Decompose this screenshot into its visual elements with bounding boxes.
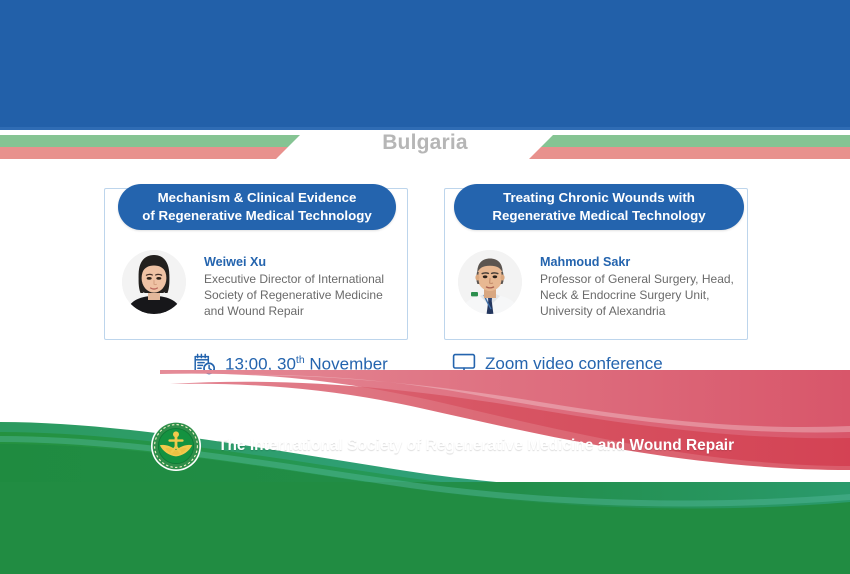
- session-title-pill-1: Mechanism & Clinical Evidence of Regener…: [118, 184, 396, 230]
- footer-row: The International Society of Regenerativ…: [0, 418, 850, 474]
- speaker-text-2: Mahmoud Sakr Professor of General Surger…: [540, 250, 734, 320]
- datetime-ordinal: th: [296, 354, 305, 366]
- session-title-pill-2: Treating Chronic Wounds with Regenerativ…: [454, 184, 744, 230]
- speaker-block-1: Weiwei Xu Executive Director of Internat…: [122, 250, 384, 320]
- mahmoud-sakr-portrait: [458, 250, 522, 314]
- top-banner: [0, 0, 850, 127]
- speaker-block-2: Mahmoud Sakr Professor of General Surger…: [458, 250, 734, 320]
- speaker-role-2: Professor of General Surgery, Head, Neck…: [540, 272, 734, 320]
- session-title-2: Treating Chronic Wounds with Regenerativ…: [492, 189, 705, 224]
- country-label: Bulgaria: [0, 128, 850, 158]
- speaker-text-1: Weiwei Xu Executive Director of Internat…: [204, 250, 384, 320]
- speaker-name-2: Mahmoud Sakr: [540, 254, 734, 271]
- speaker-name-1: Weiwei Xu: [204, 254, 384, 271]
- session-venue-text: Zoom video conference: [485, 355, 663, 372]
- session-title-1: Mechanism & Clinical Evidence of Regener…: [142, 189, 372, 224]
- isrmwr-emblem-logo: [150, 420, 202, 472]
- speaker-role-1: Executive Director of International Soci…: [204, 272, 384, 320]
- organization-name: The International Society of Regenerativ…: [218, 437, 734, 455]
- weiwei-xu-portrait: [122, 250, 186, 314]
- poster-canvas: Bulgaria Mechanism & Clinical Evidence o…: [0, 0, 850, 574]
